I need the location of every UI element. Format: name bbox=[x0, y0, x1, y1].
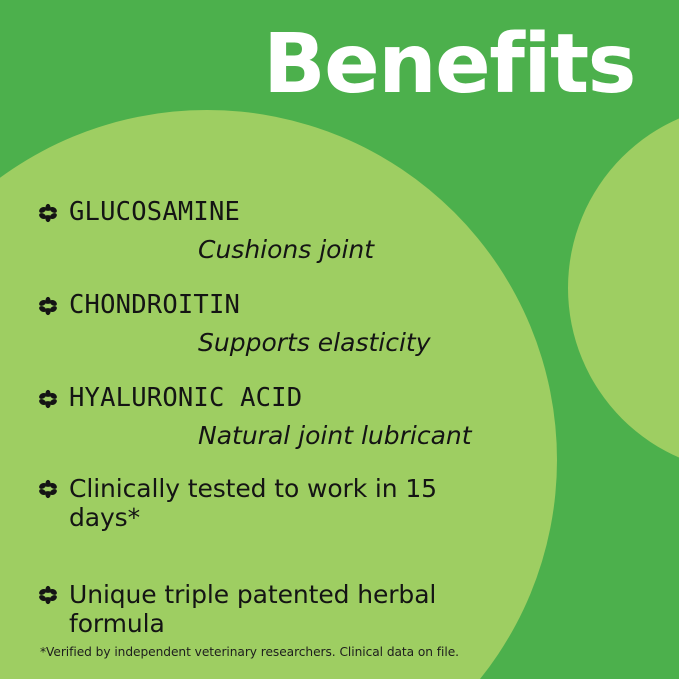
benefit-main-row: GLUCOSAMINE bbox=[38, 198, 638, 233]
benefit-subtitle: Supports elasticity bbox=[198, 329, 638, 358]
list-item: HYALURONIC ACID Natural joint lubricant bbox=[38, 384, 638, 451]
benefit-subtitle: Cushions joint bbox=[198, 236, 638, 265]
list-item: GLUCOSAMINE Cushions joint bbox=[38, 198, 638, 265]
list-item: Clinically tested to work in 15 days* bbox=[38, 474, 638, 532]
flower-asterisk-icon bbox=[38, 389, 58, 419]
benefit-main-row: HYALURONIC ACID bbox=[38, 384, 638, 419]
footnote-disclaimer: *Verified by independent veterinary rese… bbox=[40, 645, 459, 659]
benefit-label: GLUCOSAMINE bbox=[69, 198, 240, 228]
benefits-poster: Benefits bbox=[0, 0, 679, 679]
benefit-label: Unique triple patented herbal formula bbox=[69, 580, 499, 638]
flower-asterisk-icon bbox=[38, 479, 58, 509]
spacer bbox=[38, 265, 638, 291]
benefit-subtitle: Natural joint lubricant bbox=[198, 422, 638, 451]
spacer bbox=[38, 358, 638, 384]
page-title: Benefits bbox=[263, 24, 635, 106]
benefit-label: HYALURONIC ACID bbox=[69, 384, 302, 414]
flower-asterisk-icon bbox=[38, 585, 58, 615]
benefit-main-row: Unique triple patented herbal formula bbox=[38, 580, 638, 638]
spacer bbox=[38, 450, 638, 474]
flower-asterisk-icon bbox=[38, 296, 58, 326]
benefit-main-row: CHONDROITIN bbox=[38, 291, 638, 326]
benefit-label: Clinically tested to work in 15 days* bbox=[69, 474, 499, 532]
benefit-label: CHONDROITIN bbox=[69, 291, 240, 321]
list-item: Unique triple patented herbal formula bbox=[38, 580, 638, 638]
flower-asterisk-icon bbox=[38, 203, 58, 233]
spacer bbox=[38, 532, 638, 580]
benefits-list: GLUCOSAMINE Cushions joint bbox=[38, 198, 638, 638]
benefit-main-row: Clinically tested to work in 15 days* bbox=[38, 474, 638, 532]
list-item: CHONDROITIN Supports elasticity bbox=[38, 291, 638, 358]
